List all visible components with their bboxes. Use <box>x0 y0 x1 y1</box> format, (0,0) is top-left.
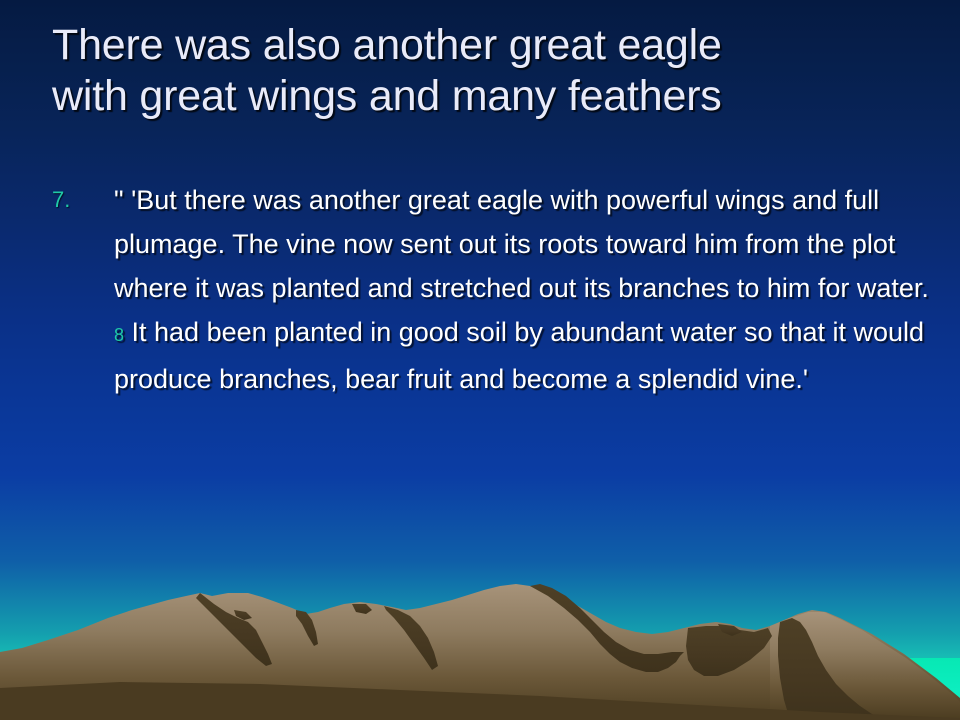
slide-title: There was also another great eagle with … <box>52 20 922 122</box>
scripture-text-part-1: " 'But there was another great eagle wit… <box>114 185 929 303</box>
bullet-number: 7. <box>52 178 114 222</box>
scripture-text-part-2: It had been planted in good soil by abun… <box>114 317 924 394</box>
slide-body: 7. " 'But there was another great eagle … <box>52 178 932 401</box>
presentation-slide: There was also another great eagle with … <box>0 0 960 720</box>
mountain-svg <box>0 560 960 720</box>
slide-title-line-1: There was also another great eagle <box>52 20 922 71</box>
slide-title-line-2: with great wings and many feathers <box>52 71 922 122</box>
verse-number: 8 <box>114 325 124 345</box>
mountain-range-illustration <box>0 560 960 720</box>
bullet-paragraph: " 'But there was another great eagle wit… <box>114 178 932 401</box>
